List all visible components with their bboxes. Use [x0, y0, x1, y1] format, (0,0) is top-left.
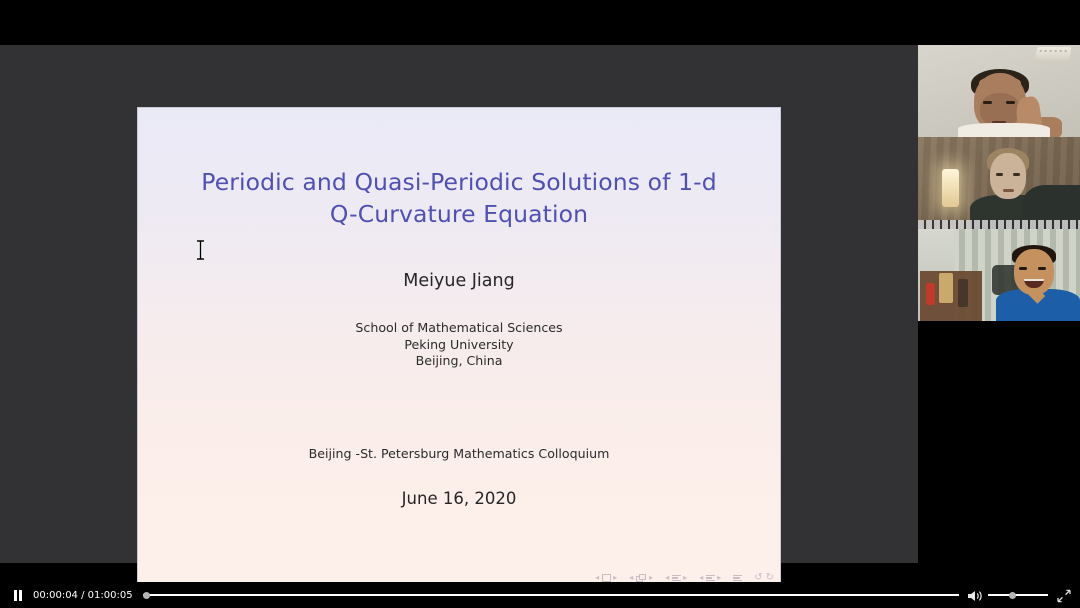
presentation-slide: Periodic and Quasi-Periodic Solutions of…: [137, 107, 781, 582]
face: [1014, 249, 1054, 295]
fullscreen-button[interactable]: [1056, 588, 1072, 602]
shared-screen-stage[interactable]: Periodic and Quasi-Periodic Solutions of…: [0, 0, 918, 582]
time-display: 00:00:04 / 01:00:05: [33, 590, 133, 601]
player-controls-bar: 00:00:04 / 01:00:05: [0, 582, 1080, 608]
right-arrow-icon: ▸: [613, 574, 617, 582]
participant-video-2[interactable]: [918, 137, 1080, 229]
section-nav-icon[interactable]: ◂ ▸: [699, 574, 721, 582]
progress-bar[interactable]: [143, 582, 959, 608]
right-arrow-icon: ▸: [683, 574, 687, 582]
volume-button[interactable]: [967, 588, 984, 602]
participant-video-1[interactable]: [918, 45, 1080, 137]
slide-author: Meiyue Jiang: [138, 271, 780, 291]
slide-title: Periodic and Quasi-Periodic Solutions of…: [138, 166, 780, 230]
volume-track[interactable]: [988, 594, 1048, 596]
subsection-lines-icon: [672, 575, 681, 581]
desk-lamp: [942, 169, 959, 207]
slide-date: June 16, 2020: [138, 489, 780, 508]
volume-handle[interactable]: [1009, 592, 1016, 599]
progress-handle[interactable]: [143, 592, 150, 599]
pause-icon-bar-right: [19, 590, 22, 601]
beamer-navigation-symbols[interactable]: ◂ ▸ ◂ ▸ ◂ ▸ ◂: [595, 573, 774, 582]
shirt: [958, 123, 1050, 137]
right-arrow-icon: ▸: [717, 574, 721, 582]
affiliation-line-1: School of Mathematical Sciences: [138, 320, 780, 337]
bottle: [939, 273, 953, 303]
left-arrow-icon: ◂: [665, 574, 669, 582]
keyboard: [918, 220, 1080, 229]
stage-canvas: Periodic and Quasi-Periodic Solutions of…: [0, 45, 918, 563]
speaker-icon: [967, 589, 984, 603]
section-lines-icon: [706, 575, 715, 581]
fullscreen-icon: [1056, 589, 1072, 603]
left-arrow-icon: ◂: [629, 574, 633, 582]
volume-slider[interactable]: [988, 582, 1048, 608]
slide-affiliation: School of Mathematical Sciences Peking U…: [138, 320, 780, 370]
back-forward-nav-icon[interactable]: ↺ ↻: [754, 573, 774, 582]
left-eye: [1019, 267, 1027, 270]
video-player-window: Periodic and Quasi-Periodic Solutions of…: [0, 0, 1080, 608]
participant-video-3[interactable]: [918, 229, 1080, 321]
forward-icon: ↻: [766, 573, 774, 582]
pause-icon-bar-left: [14, 590, 17, 601]
frame-pages-icon: [636, 574, 647, 583]
frame-nav-icon[interactable]: ◂ ▸: [629, 574, 653, 583]
left-eye: [996, 173, 1003, 176]
affiliation-line-2: Peking University: [138, 337, 780, 354]
right-arrow-icon: ▸: [649, 574, 653, 582]
mouth: [1003, 189, 1014, 192]
bottle: [926, 283, 935, 305]
ceiling-lamp: [1035, 47, 1072, 63]
presentation-lines-icon: [733, 575, 742, 581]
affiliation-line-3: Beijing, China: [138, 353, 780, 370]
right-eye: [1038, 267, 1046, 270]
slide-nav-icon[interactable]: ◂ ▸: [595, 574, 617, 582]
bottle: [958, 279, 968, 307]
pause-button[interactable]: [6, 590, 30, 601]
face: [990, 153, 1026, 199]
left-arrow-icon: ◂: [595, 574, 599, 582]
left-arrow-icon: ◂: [699, 574, 703, 582]
subsection-nav-icon[interactable]: ◂ ▸: [665, 574, 687, 582]
progress-track[interactable]: [143, 594, 959, 596]
presentation-nav-icon[interactable]: [733, 575, 742, 581]
right-eye: [1006, 101, 1015, 104]
right-eye: [1013, 173, 1020, 176]
slide-event-name: Beijing -St. Petersburg Mathematics Coll…: [138, 446, 780, 461]
left-eye: [983, 101, 992, 104]
back-icon: ↺: [754, 573, 762, 582]
slide-box-icon: [602, 574, 611, 582]
participant-video-strip: [918, 45, 1080, 321]
